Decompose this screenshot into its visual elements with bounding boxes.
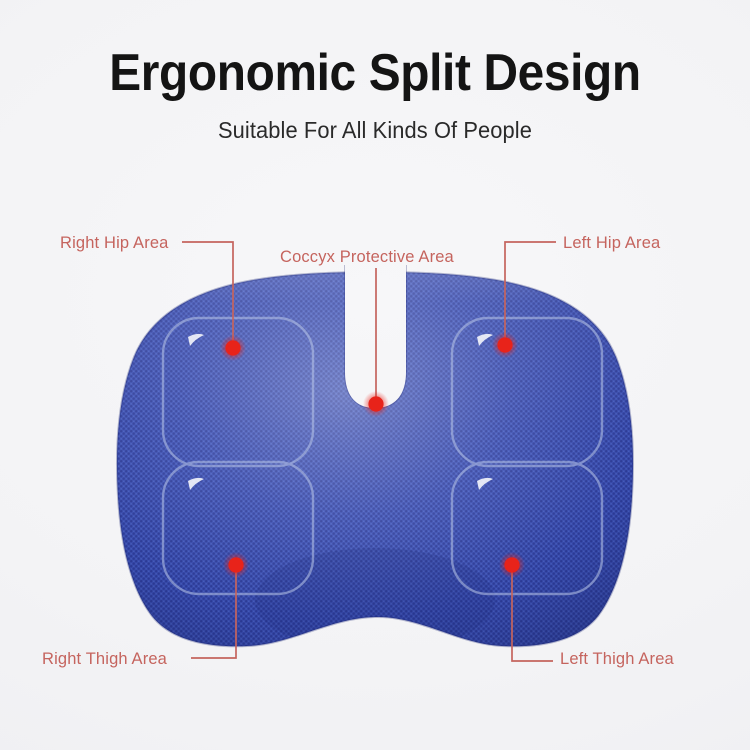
callout-label-right-thigh: Right Thigh Area	[42, 650, 167, 669]
marker-right-hip	[220, 335, 246, 361]
marker-right-thigh	[223, 552, 249, 578]
callout-label-left-hip: Left Hip Area	[563, 234, 660, 253]
page-title: Ergonomic Split Design	[30, 46, 720, 101]
callout-label-right-hip: Right Hip Area	[60, 234, 169, 253]
cushion-body	[100, 250, 660, 670]
page-subtitle: Suitable For All Kinds Of People	[19, 117, 732, 144]
marker-left-hip	[492, 332, 518, 358]
product-infographic: Ergonomic Split Design Suitable For All …	[0, 0, 750, 750]
marker-coccyx	[363, 391, 389, 417]
marker-left-thigh	[499, 552, 525, 578]
callout-label-left-thigh: Left Thigh Area	[560, 650, 674, 669]
callout-label-coccyx: Coccyx Protective Area	[280, 248, 454, 267]
header-block: Ergonomic Split Design Suitable For All …	[0, 46, 750, 144]
